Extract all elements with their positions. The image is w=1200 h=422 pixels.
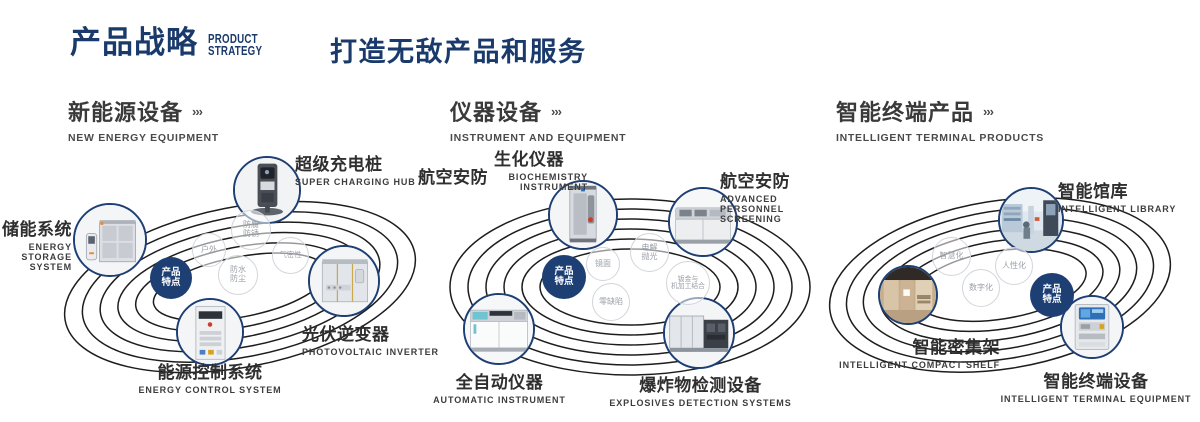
feature-bubble-zero-defect[interactable]: 零缺陷 [592, 283, 630, 321]
label-intelligent-library: 智能馆库 INTELLIGENT LIBRARY [1058, 177, 1176, 214]
feature-bubble-sheetmetal-machining[interactable]: 钣金与 机加工结合 [666, 261, 710, 305]
core-bubble-line2: 特点 [554, 277, 573, 287]
core-bubble-product-features[interactable]: 产品 特点 [150, 257, 192, 299]
page-title-en: PRODUCT STRATEGY [208, 33, 262, 59]
control-cabinet-illustration [178, 300, 242, 364]
feature-bubble-electropolishing[interactable]: 电解 抛光 [630, 233, 669, 272]
section-title-en: INTELLIGENT TERMINAL PRODUCTS [836, 132, 1044, 144]
section-title-cn: 新能源设备 [68, 95, 183, 127]
node-label-cn: 储能系统 [2, 215, 72, 240]
chevrons-right-icon: ››› [983, 104, 993, 119]
node-label-en: ENERGY CONTROL SYSTEM [100, 385, 320, 395]
label-intelligent-compact-shelf: 智能密集架 INTELLIGENT COMPACT SHELF [800, 333, 1000, 370]
node-intelligent-library[interactable] [998, 187, 1064, 253]
feature-bubble-anti-corrosion[interactable]: 防腐 防锈 [231, 210, 271, 250]
node-label-en: INTELLIGENT TERMINAL EQUIPMENT [996, 394, 1196, 404]
intelligent-library-photo [1000, 189, 1062, 251]
pv-inverter-cabinet-illustration [310, 247, 378, 315]
node-label-cn: 智能馆库 [1058, 177, 1176, 202]
node-intelligent-compact-shelf[interactable] [878, 265, 938, 325]
node-label-en: EXPLOSIVES DETECTION SYSTEMS [608, 398, 793, 408]
feature-bubble-waterproof-dustproof[interactable]: 防水 防尘 [218, 255, 258, 295]
node-automatic-instrument[interactable] [463, 293, 535, 365]
node-label-en: PHOTOVOLTAIC INVERTER [302, 347, 439, 357]
label-automatic-instrument: 全自动仪器 AUTOMATIC INSTRUMENT [412, 368, 587, 405]
core-bubble-product-features[interactable]: 产品 特点 [542, 255, 586, 299]
section-title-cn: 智能终端产品 [836, 95, 974, 127]
page-title-en-line2: STRATEGY [208, 45, 262, 58]
explosives-detector-illustration [665, 299, 733, 367]
label-biochemistry-instrument: 生化仪器 BIOCHEMISTRY INSTRUMENT [470, 145, 588, 192]
section-heading-instrument: 仪器设备››› INSTRUMENT AND EQUIPMENT [450, 95, 626, 144]
cluster-intelligent-terminal: 智能馆库 INTELLIGENT LIBRARY 智能密集架 INTELLIGE… [810, 155, 1200, 405]
node-explosives-detection-systems[interactable] [663, 297, 735, 369]
feature-bubble-humanization[interactable]: 人性化 [995, 247, 1033, 285]
core-bubble-line2: 特点 [1042, 295, 1061, 305]
feature-bubble-mirror-finish[interactable]: 镜面 [586, 247, 620, 281]
page-title-cn: 产品战略 [70, 28, 198, 59]
section-heading-new-energy: 新能源设备››› NEW ENERGY EQUIPMENT [68, 95, 219, 144]
node-energy-control-system[interactable] [176, 298, 244, 366]
label-intelligent-terminal-equipment: 智能终端设备 INTELLIGENT TERMINAL EQUIPMENT [996, 367, 1196, 404]
section-heading-intelligent-terminal: 智能终端产品››› INTELLIGENT TERMINAL PRODUCTS [836, 95, 1044, 144]
node-label-en: BIOCHEMISTRY INSTRUMENT [470, 172, 588, 192]
label-explosives-detection-systems: 爆炸物检测设备 EXPLOSIVES DETECTION SYSTEMS [608, 371, 793, 408]
feature-bubble-outdoor[interactable]: 户外 [192, 233, 226, 267]
node-label-cn: 爆炸物检测设备 [608, 371, 793, 396]
chevrons-right-icon: ››› [192, 104, 202, 119]
node-label-cn: 智能密集架 [800, 333, 1000, 358]
node-label-cn: 生化仪器 [470, 145, 588, 170]
node-label-en: INTELLIGENT LIBRARY [1058, 204, 1176, 214]
chevrons-right-icon: ››› [551, 104, 561, 119]
feature-bubble-digitalization[interactable]: 数字化 [962, 269, 1000, 307]
label-photovoltaic-inverter: 光伏逆变器 PHOTOVOLTAIC INVERTER [302, 320, 439, 357]
feature-bubble-intelligence[interactable]: 智慧化 [932, 237, 971, 276]
automatic-analyzer-illustration [465, 295, 533, 363]
page-title-en-line1: PRODUCT [208, 33, 262, 46]
core-bubble-line2: 特点 [161, 278, 180, 288]
node-label-en: INTELLIGENT COMPACT SHELF [800, 360, 1000, 370]
node-photovoltaic-inverter[interactable] [308, 245, 380, 317]
label-energy-storage-system: 储能系统 ENERGY STORAGE SYSTEM [2, 215, 72, 272]
product-strategy-infographic: 产品战略 PRODUCT STRATEGY 打造无敌产品和服务 新能源设备›››… [0, 0, 1200, 422]
cluster-new-energy: 储能系统 ENERGY STORAGE SYSTEM 超级充电桩 SUPER C… [40, 155, 440, 405]
node-label-cn: 全自动仪器 [412, 368, 587, 393]
label-energy-control-system: 能源控制系统 ENERGY CONTROL SYSTEM [100, 358, 320, 395]
section-title-en: NEW ENERGY EQUIPMENT [68, 132, 219, 144]
feature-bubble-airtightness[interactable]: 气密性 [272, 237, 309, 274]
node-label-cn: 智能终端设备 [996, 367, 1196, 392]
node-label-cn: 光伏逆变器 [302, 320, 439, 345]
node-energy-storage-system[interactable] [73, 203, 147, 277]
node-label-cn: 能源控制系统 [100, 358, 320, 383]
core-bubble-product-features[interactable]: 产品 特点 [1030, 273, 1074, 317]
section-title-cn: 仪器设备 [450, 95, 542, 127]
section-title-en: INSTRUMENT AND EQUIPMENT [450, 132, 626, 144]
page-header: 产品战略 PRODUCT STRATEGY [70, 28, 278, 59]
node-label-en: AUTOMATIC INSTRUMENT [412, 395, 587, 405]
compact-shelf-photo [880, 267, 936, 323]
energy-storage-cabinet-illustration [75, 205, 145, 275]
cluster-instrument: 航空安防 生化仪器 BIOCHEMISTRY INSTRUMENT 航空安防 A… [420, 155, 840, 405]
page-subtitle: 打造无敌产品和服务 [330, 30, 587, 69]
node-label-en: ENERGY STORAGE SYSTEM [2, 242, 72, 272]
